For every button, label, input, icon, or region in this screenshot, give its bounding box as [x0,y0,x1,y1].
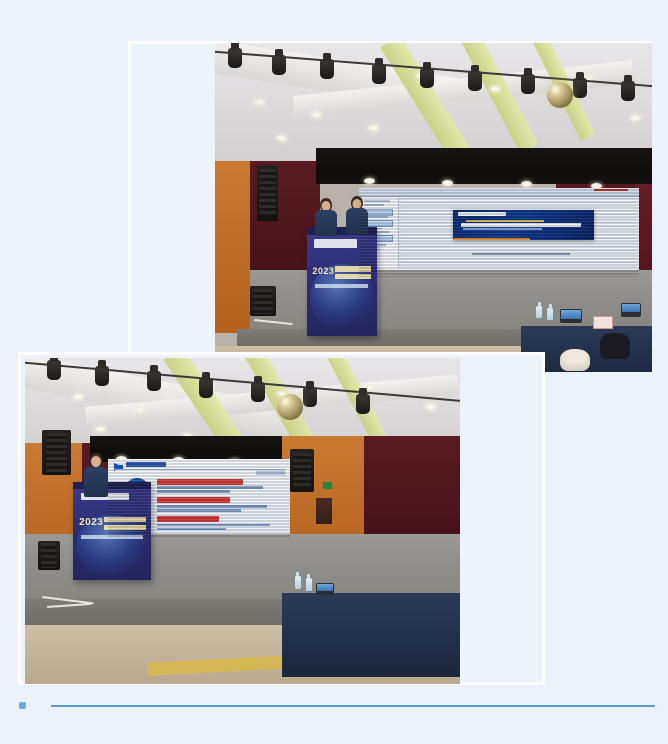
stage-monitor [38,541,60,570]
audience-table [282,593,460,678]
stage-light [621,81,635,101]
water-bottle [306,578,312,591]
stage-light [320,59,334,79]
photo-bottom-scene: ▤ ▥ ◯ [25,358,460,684]
podium-year-text: 2023 [312,266,334,276]
conference-hall-content-slide-photo[interactable]: ▤ ▥ ◯ [25,358,460,684]
proscenium-downlight [364,178,375,184]
conference-hall-title-slide-photo[interactable]: 2023 [215,43,652,372]
stage-light [147,371,161,391]
stage-light [573,78,587,98]
bullet-body-3 [157,528,226,531]
slide-org-logo [458,212,506,216]
slide-bullet-marker [19,702,26,709]
bullet-body-2 [157,505,267,508]
laptop [560,309,582,323]
stage-light [420,68,434,88]
mirror-ball [277,394,303,420]
photo-top-scene: 2023 [215,43,652,372]
bullet-body-3 [157,524,270,527]
ceiling-downlight [134,407,145,413]
bullet-headline-2 [157,497,230,503]
laptop [316,583,334,595]
slide-heading-text [126,462,166,467]
hall-door [316,498,332,524]
audience-member [600,333,630,359]
bullet-body-1 [157,490,230,493]
ceiling-downlight [490,86,501,92]
podium: 2023 [307,227,377,336]
ceiling-downlight [425,404,436,410]
slide-footer-text [472,253,571,255]
exit-sign [323,482,332,489]
stage-light [356,394,370,414]
bullet-body-1 [157,486,263,489]
stage-light [521,74,535,94]
slide-corner-logo [256,471,285,475]
line-array-speaker [290,449,314,491]
slide-kicker-text [466,220,545,222]
presenter-left [313,198,339,240]
horizontal-divider [51,705,655,707]
water-bottle [547,308,553,320]
slide-title-card [453,210,594,239]
photo-card-top[interactable]: 2023 [128,41,652,372]
name-card [593,316,613,329]
stage-light [251,382,265,402]
stage-monitor [250,286,276,316]
line-array-speaker [42,430,70,476]
page-canvas: 2023 [0,0,668,744]
stage-light [303,387,317,407]
line-array-speaker [257,165,279,221]
podium-logo [314,239,357,248]
presenter [82,453,110,499]
bullet-headline-3 [157,516,219,522]
water-bottle [295,576,301,589]
slide-title [359,188,639,277]
podium-year-text: 2023 [79,517,103,528]
proscenium-downlight [442,180,453,186]
led-screen [359,188,639,277]
slide-main-title [461,223,581,227]
slide-document-area [401,198,636,268]
slide-subtitle [463,228,542,230]
stage-light [468,71,482,91]
stage-light [47,360,61,380]
stage-light [199,378,213,398]
stage-light [95,366,109,386]
wall-left [215,161,254,332]
proscenium-downlight [521,181,532,187]
bullet-headline-1 [157,479,243,485]
laptop [621,303,641,317]
slide-accent-band [453,238,531,240]
bullet-body-2 [157,509,241,512]
slide-browser-accent [594,189,628,191]
water-bottle [536,306,542,318]
ceiling-downlight [73,394,84,400]
presenter-right [344,196,370,238]
chair [560,349,590,371]
photo-card-bottom[interactable]: ▤ ▥ ◯ [18,352,545,685]
stage-light [228,48,242,68]
stage-light [272,55,286,75]
stage-light [372,64,386,84]
